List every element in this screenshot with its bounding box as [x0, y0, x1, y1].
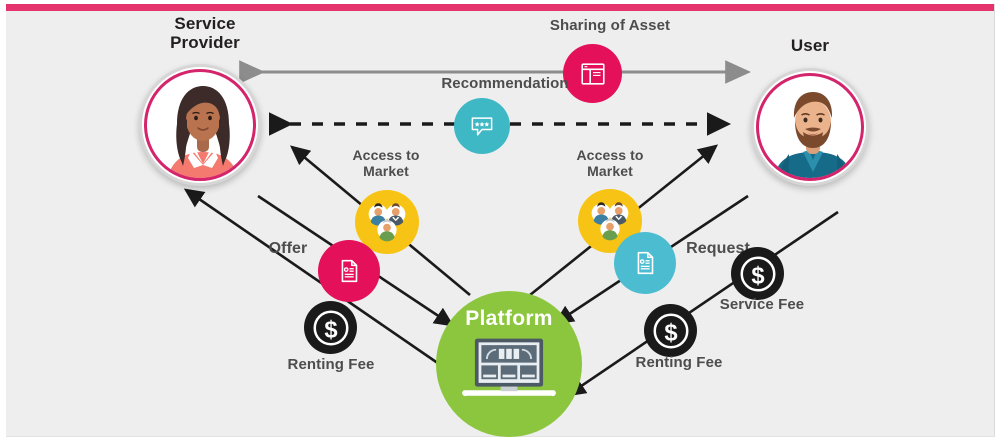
- sharing-of-asset-label-text: Sharing of Asset: [550, 17, 670, 34]
- svg-text:$: $: [324, 316, 337, 343]
- access-to-market-left-line2: Market: [328, 164, 444, 180]
- recommendation-icon-badge[interactable]: [454, 98, 510, 154]
- user-label-text: User: [740, 36, 880, 55]
- access-to-market-left-label: Access to Market: [328, 148, 444, 179]
- platform-node[interactable]: Platform: [436, 291, 582, 437]
- service-provider-label-line1: Service: [135, 14, 275, 33]
- service-provider-label-line2: Provider: [135, 33, 275, 52]
- laptop-dashboard-icon: [458, 335, 560, 405]
- svg-text:$: $: [664, 319, 677, 346]
- access-to-market-right-line2: Market: [552, 164, 668, 180]
- recommendation-label: Recommendation: [395, 76, 615, 93]
- service-fee-label-text: Service Fee: [720, 296, 805, 313]
- diagram-canvas: Service Provider: [0, 0, 1000, 438]
- service-provider-avatar[interactable]: [139, 64, 261, 186]
- offer-icon-badge[interactable]: [318, 240, 380, 302]
- service-provider-label: Service Provider: [135, 14, 275, 52]
- offer-label-text: Offer: [269, 240, 308, 257]
- sharing-of-asset-label: Sharing of Asset: [500, 18, 720, 35]
- man-avatar-icon: [759, 76, 861, 178]
- renting-fee-right-label-text: Renting Fee: [636, 354, 723, 371]
- dollar-coin-icon: $: [306, 303, 356, 353]
- service-fee-icon-badge[interactable]: $: [731, 247, 784, 300]
- group-of-people-icon: [359, 194, 415, 250]
- avatar-image-woman: [147, 72, 253, 178]
- access-to-market-left-line1: Access to: [328, 148, 444, 164]
- platform-label: Platform: [465, 307, 553, 331]
- review-stars-bubble-icon: [468, 112, 496, 140]
- offer-label: Offer: [248, 240, 328, 258]
- woman-avatar-icon: [147, 72, 253, 178]
- recommendation-label-text: Recommendation: [441, 75, 568, 92]
- renting-fee-right-label: Renting Fee: [620, 355, 738, 372]
- access-to-market-right-label: Access to Market: [552, 148, 668, 179]
- user-avatar[interactable]: [751, 68, 869, 186]
- document-icon: [334, 256, 364, 286]
- dollar-coin-icon: $: [646, 306, 696, 356]
- renting-fee-left-label-text: Renting Fee: [288, 356, 375, 373]
- dollar-coin-icon: $: [733, 249, 783, 299]
- svg-text:$: $: [751, 262, 764, 289]
- accent-top-bar: [6, 4, 994, 11]
- renting-fee-left-icon-badge[interactable]: $: [304, 301, 357, 354]
- request-icon-badge[interactable]: [614, 232, 676, 294]
- renting-fee-left-label: Renting Fee: [272, 357, 390, 374]
- user-label: User: [740, 36, 880, 55]
- service-fee-label: Service Fee: [704, 297, 820, 314]
- renting-fee-right-icon-badge[interactable]: $: [644, 304, 697, 357]
- sharing-of-asset-icon-badge[interactable]: [563, 44, 622, 103]
- avatar-image-man: [759, 76, 861, 178]
- document-icon: [630, 248, 660, 278]
- access-to-market-right-line1: Access to: [552, 148, 668, 164]
